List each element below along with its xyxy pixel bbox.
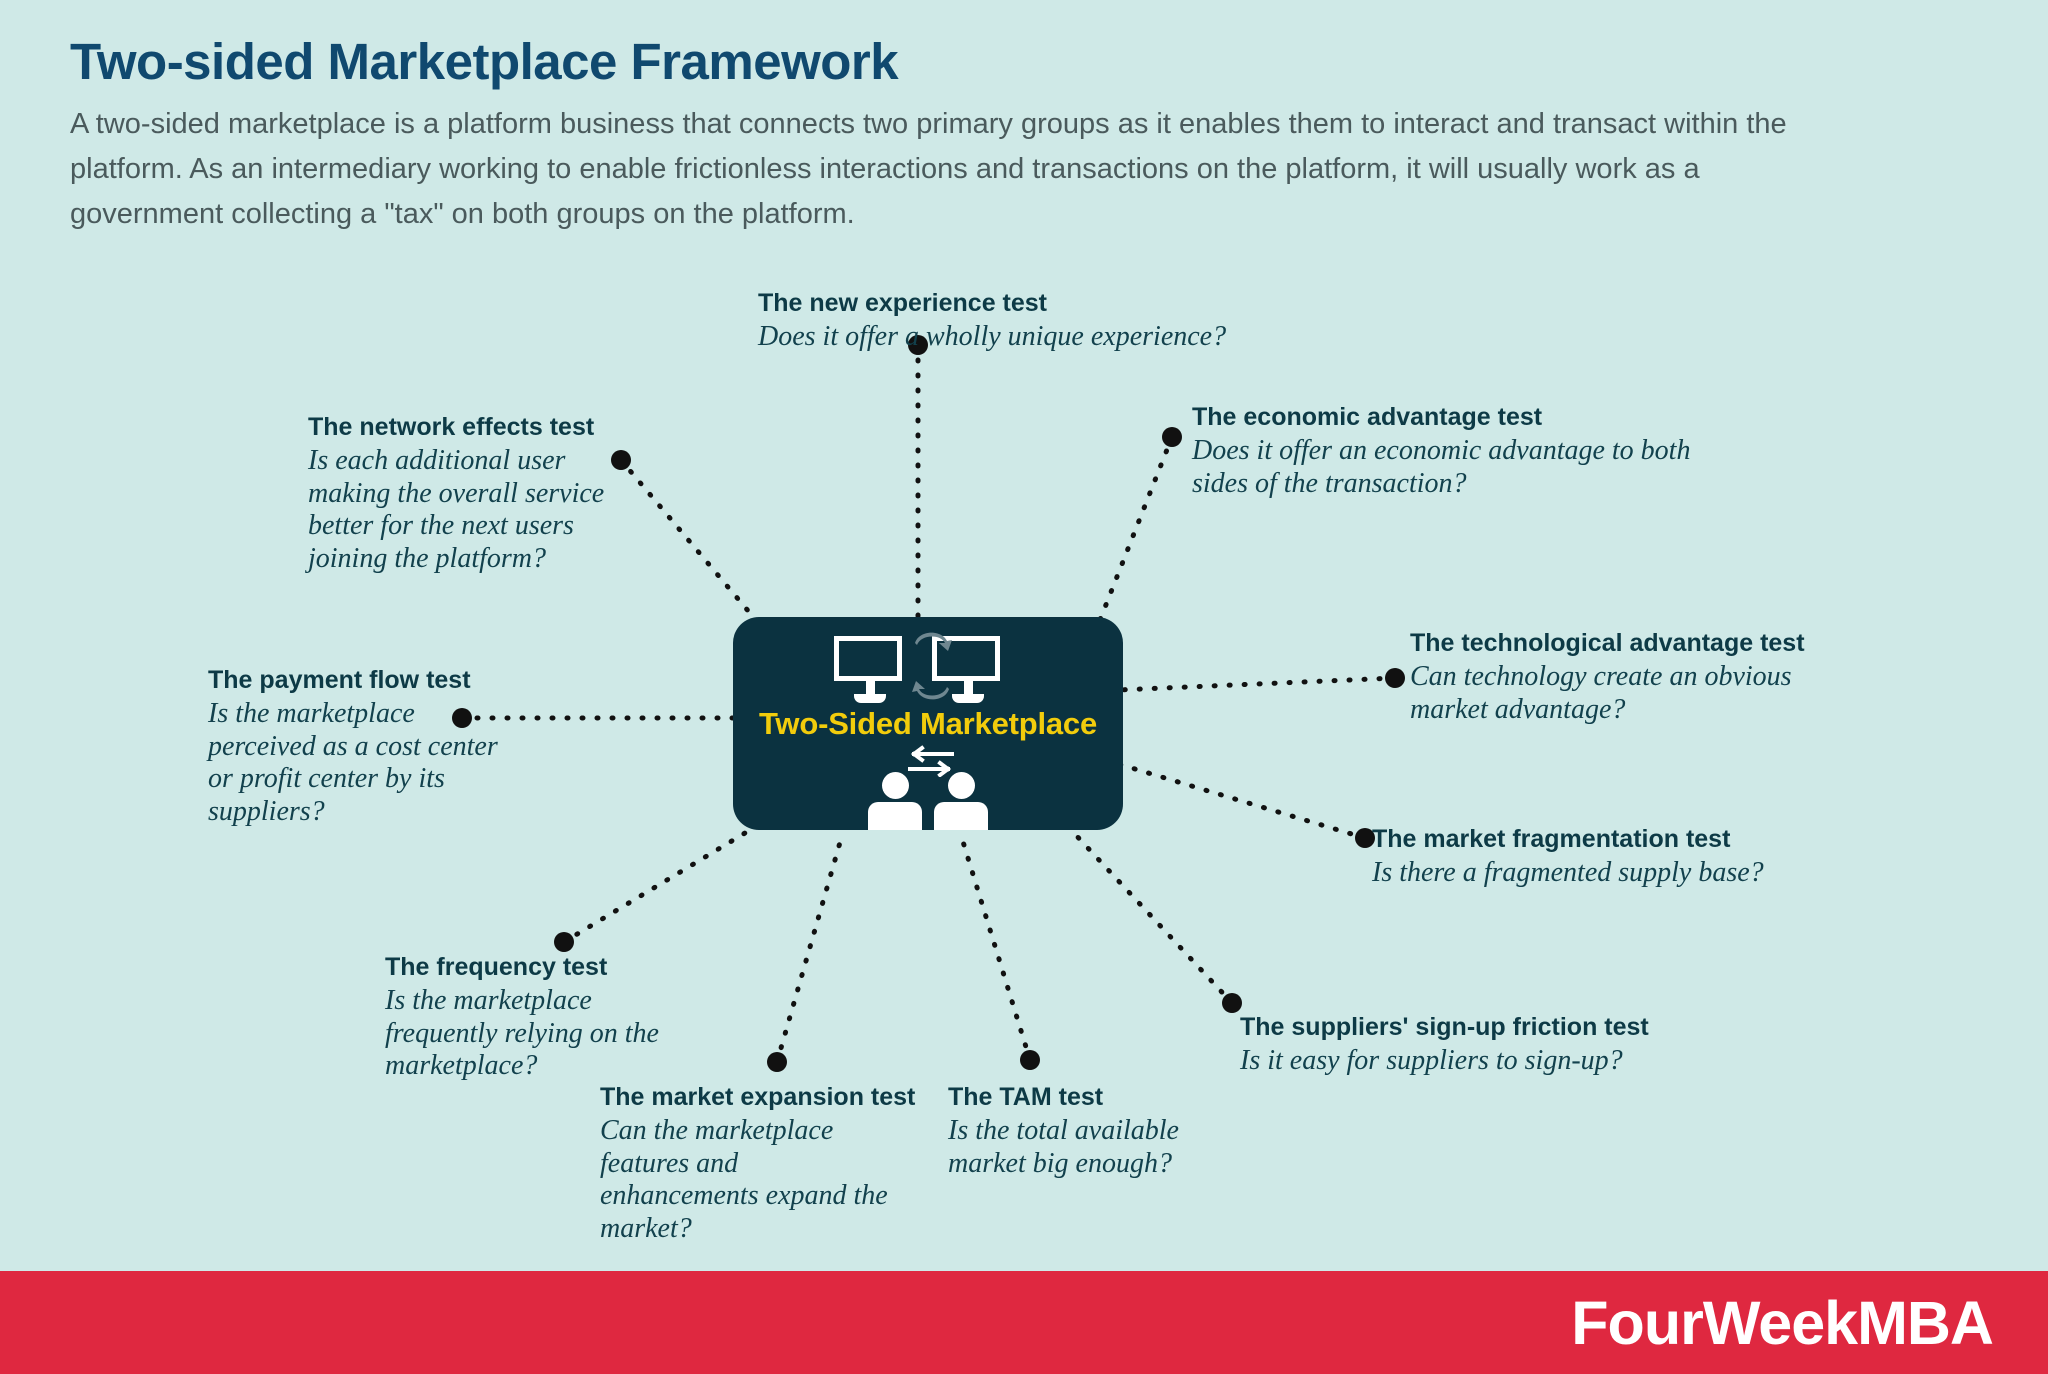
label-tam-test: The TAM test Is the total available mark… xyxy=(948,1082,1218,1180)
monitor-icon xyxy=(834,636,906,703)
label-payment-flow-test: The payment flow test Is the marketplace… xyxy=(208,665,528,828)
label-title: The network effects test xyxy=(308,412,638,443)
center-node-two-sided-marketplace: Two-Sided Marketplace xyxy=(733,617,1123,830)
intro-paragraph: A two-sided marketplace is a platform bu… xyxy=(70,102,1810,237)
dot-technological-advantage xyxy=(1385,668,1405,688)
label-title: The suppliers' sign-up friction test xyxy=(1240,1012,1660,1043)
label-title: The technological advantage test xyxy=(1410,628,1830,659)
person-icon xyxy=(934,772,988,830)
label-frequency-test: The frequency test Is the marketplace fr… xyxy=(385,952,695,1083)
label-title: The new experience test xyxy=(758,288,1318,319)
center-node-label: Two-Sided Marketplace xyxy=(733,706,1123,742)
dot-frequency xyxy=(554,932,574,952)
label-description: Does it offer an economic advantage to b… xyxy=(1192,435,1742,500)
label-suppliers-signup-friction-test: The suppliers' sign-up friction test Is … xyxy=(1240,1012,1660,1078)
label-title: The payment flow test xyxy=(208,665,528,696)
label-technological-advantage-test: The technological advantage test Can tec… xyxy=(1410,628,1830,726)
page-title: Two-sided Marketplace Framework xyxy=(70,34,1870,90)
label-description: Is there a fragmented supply base? xyxy=(1372,857,1802,889)
header: Two-sided Marketplace Framework A two-si… xyxy=(70,34,1870,237)
label-economic-advantage-test: The economic advantage test Does it offe… xyxy=(1192,402,1742,500)
label-title: The market fragmentation test xyxy=(1372,824,1802,855)
connector-market-expansion xyxy=(777,832,843,1062)
label-description: Is it easy for suppliers to sign-up? xyxy=(1240,1045,1660,1077)
dot-market-expansion xyxy=(767,1052,787,1072)
label-title: The economic advantage test xyxy=(1192,402,1742,433)
label-market-fragmentation-test: The market fragmentation test Is there a… xyxy=(1372,824,1802,890)
footer-bar: FourWeekMBA xyxy=(0,1271,2048,1374)
dot-economic-advantage xyxy=(1162,427,1182,447)
dot-tam xyxy=(1020,1050,1040,1070)
connector-market-fragmentation xyxy=(1105,760,1365,838)
dot-suppliers-signup xyxy=(1222,993,1242,1013)
connector-tam xyxy=(960,832,1030,1060)
connector-network-effects xyxy=(621,460,760,625)
infographic-canvas: Two-sided Marketplace Framework A two-si… xyxy=(0,0,2048,1374)
label-title: The TAM test xyxy=(948,1082,1218,1113)
label-description: Does it offer a wholly unique experience… xyxy=(758,321,1318,353)
connector-frequency xyxy=(564,824,760,942)
label-description: Can technology create an obvious market … xyxy=(1410,661,1830,726)
label-description: Is the marketplace frequently relying on… xyxy=(385,985,695,1082)
label-title: The market expansion test xyxy=(600,1082,900,1113)
label-title: The frequency test xyxy=(385,952,695,983)
exchange-arrows-icon xyxy=(911,629,953,701)
person-icon xyxy=(868,772,922,830)
label-new-experience-test: The new experience test Does it offer a … xyxy=(758,288,1318,354)
label-description: Is each additional user making the overa… xyxy=(308,445,638,575)
connector-suppliers-signup xyxy=(1060,818,1232,1003)
label-description: Is the marketplace perceived as a cost c… xyxy=(208,698,528,828)
brand-logo-text: FourWeekMBA xyxy=(1571,1288,1993,1358)
label-market-expansion-test: The market expansion test Can the market… xyxy=(600,1082,900,1245)
label-network-effects-test: The network effects test Is each additio… xyxy=(308,412,638,575)
connector-economic-advantage xyxy=(1098,437,1172,625)
connector-technological-advantage xyxy=(1118,678,1395,690)
label-description: Can the marketplace features and enhance… xyxy=(600,1115,900,1245)
label-description: Is the total available market big enough… xyxy=(948,1115,1218,1180)
